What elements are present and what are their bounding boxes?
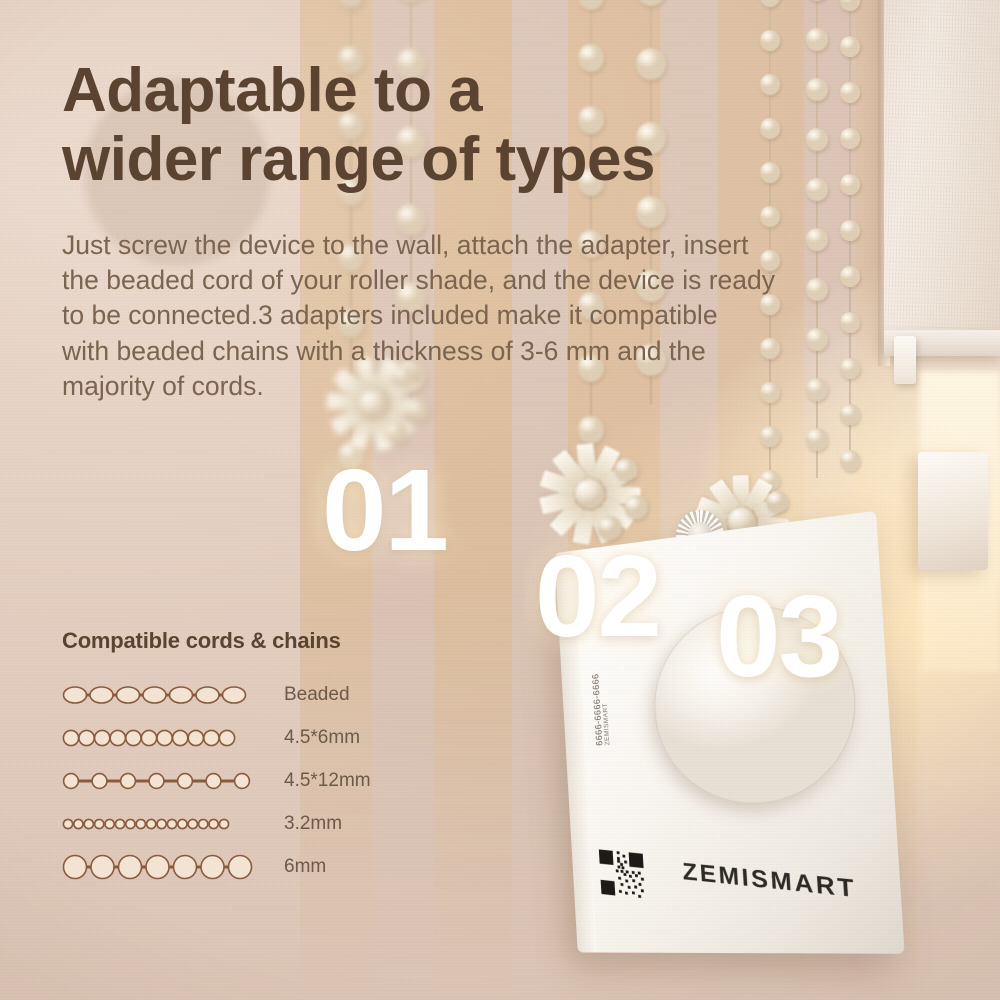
paragraph-line-1: Just screw the device to the wall, attac…	[62, 228, 922, 263]
heading-line-2: wider range of types	[62, 125, 762, 194]
compatible-cords-title: Compatible cords & chains	[62, 628, 462, 654]
step-number-03: 03	[716, 578, 841, 694]
fine-bead-chain-icon	[62, 809, 262, 839]
cord-label: 4.5*12mm	[262, 770, 371, 792]
cord-label: 4.5*6mm	[262, 727, 360, 749]
bead-chain-4p5x6-icon	[62, 723, 262, 753]
step-number-02: 02	[535, 538, 660, 654]
page-title: Adaptable to a wider range of types	[62, 56, 762, 195]
description-paragraph: Just screw the device to the wall, attac…	[62, 228, 922, 404]
cord-label: 3.2mm	[262, 813, 342, 835]
cord-label: Beaded	[262, 684, 350, 706]
cord-row: 4.5*12mm	[62, 762, 462, 800]
cord-row: 6mm	[62, 848, 462, 886]
beaded-oval-chain-icon	[62, 680, 262, 710]
paragraph-line-3: to be connected.3 adapters included make…	[62, 298, 922, 333]
cord-row: Beaded	[62, 676, 462, 714]
heading-line-1: Adaptable to a	[62, 56, 762, 125]
large-bead-chain-icon	[62, 852, 262, 882]
ball-chain-4p5x12-icon	[62, 766, 262, 796]
cord-row: 3.2mm	[62, 805, 462, 843]
compatible-cords-section: Compatible cords & chains Beaded4.5*6mm4…	[62, 628, 462, 891]
step-number-01: 01	[322, 452, 447, 568]
paragraph-line-2: the beaded cord of your roller shade, an…	[62, 263, 922, 298]
cord-label: 6mm	[262, 856, 326, 878]
product-marketing-image: 6666-6666-6666 ZEMISMART ZEMISMART 01 02…	[0, 0, 1000, 1000]
paragraph-line-4: with beaded chains with a thickness of 3…	[62, 334, 922, 369]
cord-row: 4.5*6mm	[62, 719, 462, 757]
paragraph-line-5: majority of cords.	[62, 369, 922, 404]
